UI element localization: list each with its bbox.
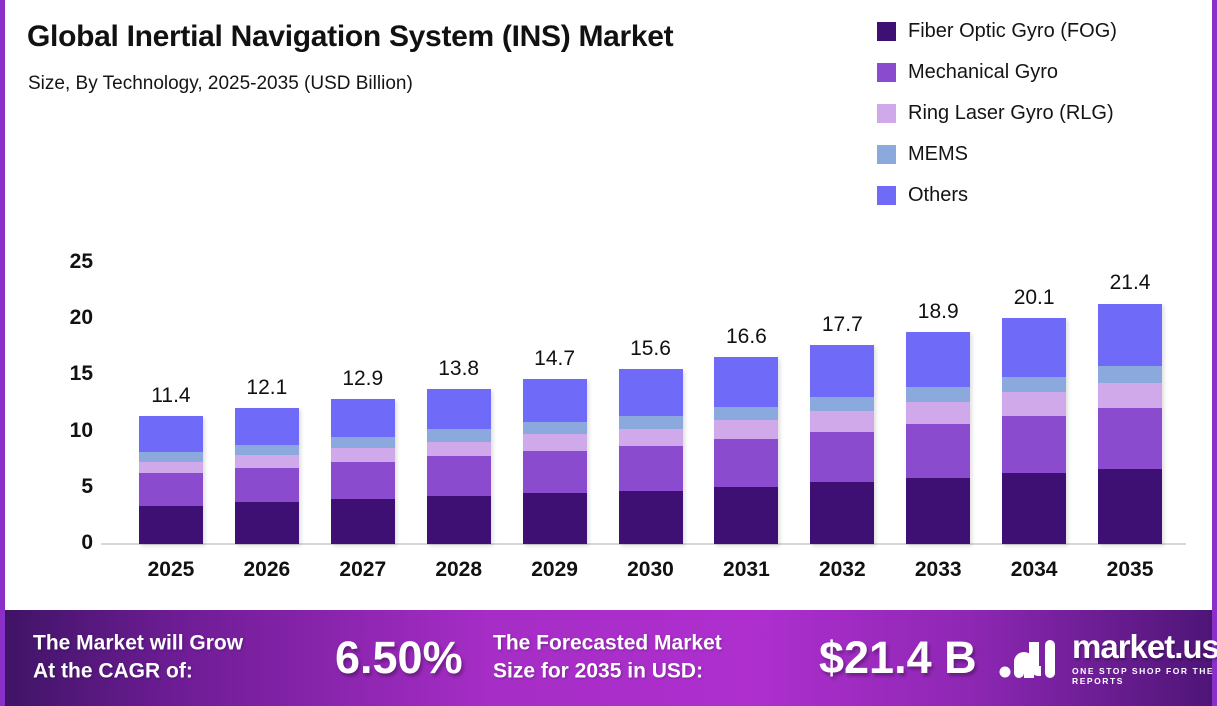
bar-segment[interactable] [906,332,970,387]
bar-segment[interactable] [1002,473,1066,544]
bar-value-label: 15.6 [630,337,671,361]
bar-segment[interactable] [1002,318,1066,376]
bar-segment[interactable] [235,455,299,467]
bar-segment[interactable] [235,408,299,445]
bar-segment[interactable] [139,452,203,462]
x-axis-tick-2034: 2034 [986,558,1082,582]
bar-segment[interactable] [619,446,683,491]
chart-legend: Fiber Optic Gyro (FOG)Mechanical GyroRin… [877,20,1117,207]
bar-segment[interactable] [235,468,299,503]
bar-segment[interactable] [427,389,491,429]
legend-label: Ring Laser Gyro (RLG) [908,102,1114,125]
bar-segment[interactable] [810,482,874,544]
bar-segment[interactable] [331,499,395,544]
logo-tagline: ONE STOP SHOP FOR THE REPORTS [1072,666,1217,686]
bar-value-label: 17.7 [822,313,863,337]
y-axis-tick: 5 [35,475,93,499]
bar-segment[interactable] [1098,469,1162,544]
bar-segment[interactable] [1098,366,1162,383]
bar-value-label: 13.8 [438,357,479,381]
bar-segment[interactable] [619,491,683,544]
bar-segment[interactable] [714,357,778,406]
bar-segment[interactable] [1098,383,1162,408]
bar-2033[interactable] [906,332,970,544]
bar-segment[interactable] [235,502,299,544]
cagr-value: 6.50% [335,632,463,684]
y-axis: 0510152025 [15,0,93,706]
legend-label: Mechanical Gyro [908,61,1058,84]
x-axis-tick-2027: 2027 [315,558,411,582]
bar-segment[interactable] [906,402,970,423]
bar-segment[interactable] [810,345,874,397]
bar-segment[interactable] [427,496,491,544]
legend-item-0[interactable]: Fiber Optic Gyro (FOG) [877,20,1117,43]
bar-segment[interactable] [810,411,874,431]
bar-segment[interactable] [906,478,970,544]
bar-segment[interactable] [1002,392,1066,416]
bottom-banner: The Market will GrowAt the CAGR of: 6.50… [5,610,1212,706]
bar-segment[interactable] [1002,377,1066,393]
page-title: Global Inertial Navigation System (INS) … [27,20,673,54]
bar-value-label: 12.9 [342,367,383,391]
legend-item-4[interactable]: Others [877,184,1117,207]
legend-swatch-icon [877,145,896,164]
bar-2032[interactable] [810,345,874,544]
legend-item-1[interactable]: Mechanical Gyro [877,61,1117,84]
legend-swatch-icon [877,186,896,205]
bar-value-label: 18.9 [918,300,959,324]
bar-segment[interactable] [619,429,683,446]
bar-segment[interactable] [427,442,491,457]
x-axis-tick-2032: 2032 [794,558,890,582]
logo-text: market.us ONE STOP SHOP FOR THE REPORTS [1072,630,1217,686]
bar-segment[interactable] [331,437,395,448]
bar-value-label: 14.7 [534,347,575,371]
x-axis-tick-2031: 2031 [698,558,794,582]
bar-segment[interactable] [810,397,874,412]
bar-segment[interactable] [427,429,491,441]
x-axis-tick-2028: 2028 [411,558,507,582]
y-axis-tick: 10 [35,419,93,443]
bar-segment[interactable] [331,399,395,437]
legend-swatch-icon [877,22,896,41]
bar-segment[interactable] [619,416,683,429]
x-axis-tick-2033: 2033 [890,558,986,582]
legend-label: MEMS [908,143,968,166]
bar-2026[interactable] [235,408,299,544]
legend-label: Fiber Optic Gyro (FOG) [908,20,1117,43]
bar-2027[interactable] [331,399,395,544]
bar-segment[interactable] [1098,408,1162,469]
bar-segment[interactable] [427,456,491,495]
bar-segment[interactable] [139,473,203,506]
bar-segment[interactable] [523,379,587,422]
bar-segment[interactable] [139,416,203,452]
x-axis-tick-2025: 2025 [123,558,219,582]
logo-name: market.us [1072,630,1217,663]
bar-value-label: 11.4 [151,384,190,408]
bar-segment[interactable] [1098,304,1162,367]
bar-2031[interactable] [714,357,778,544]
bar-segment[interactable] [906,387,970,403]
bar-segment[interactable] [331,448,395,461]
cagr-label: The Market will GrowAt the CAGR of: [33,630,243,687]
bar-value-label: 12.1 [246,376,287,400]
plot-area: 11.412.112.913.814.715.616.617.718.920.1… [101,263,1186,544]
bar-segment[interactable] [810,432,874,483]
bar-2034[interactable] [1002,318,1066,544]
x-axis-tick-2030: 2030 [603,558,699,582]
bar-segment[interactable] [331,462,395,499]
bar-segment[interactable] [139,506,203,544]
x-axis-tick-2029: 2029 [507,558,603,582]
y-axis-tick: 15 [35,362,93,386]
bar-segment[interactable] [139,462,203,473]
market-size-value: $21.4 B [819,632,977,684]
legend-item-3[interactable]: MEMS [877,143,1117,166]
bar-segment[interactable] [714,420,778,439]
bar-2025[interactable] [139,416,203,544]
bar-2029[interactable] [523,379,587,544]
bar-segment[interactable] [1002,416,1066,473]
logo-mark-icon [998,636,1062,680]
x-axis-tick-2026: 2026 [219,558,315,582]
x-axis-tick-2035: 2035 [1082,558,1178,582]
legend-label: Others [908,184,968,207]
bar-segment[interactable] [906,424,970,478]
chart-frame: Global Inertial Navigation System (INS) … [0,0,1217,706]
bar-value-label: 20.1 [1014,286,1055,310]
bar-segment[interactable] [714,439,778,486]
bar-segment[interactable] [619,369,683,416]
bar-segment[interactable] [523,493,587,544]
legend-swatch-icon [877,63,896,82]
y-axis-tick: 0 [35,531,93,555]
legend-item-2[interactable]: Ring Laser Gyro (RLG) [877,102,1117,125]
bar-2030[interactable] [619,369,683,544]
bar-segment[interactable] [714,407,778,420]
bar-segment[interactable] [523,451,587,494]
bar-value-label: 21.4 [1110,271,1151,295]
bar-2028[interactable] [427,389,491,544]
bar-2035[interactable] [1098,303,1162,544]
market-size-label: The Forecasted MarketSize for 2035 in US… [493,630,722,687]
y-axis-tick: 25 [35,250,93,274]
bar-value-label: 16.6 [726,325,767,349]
bar-segment[interactable] [235,445,299,455]
bar-segment[interactable] [714,487,778,544]
market-us-logo[interactable]: market.us ONE STOP SHOP FOR THE REPORTS [998,630,1217,686]
bar-segment[interactable] [523,434,587,451]
y-axis-tick: 20 [35,306,93,330]
legend-swatch-icon [877,104,896,123]
bar-segment[interactable] [523,422,587,434]
